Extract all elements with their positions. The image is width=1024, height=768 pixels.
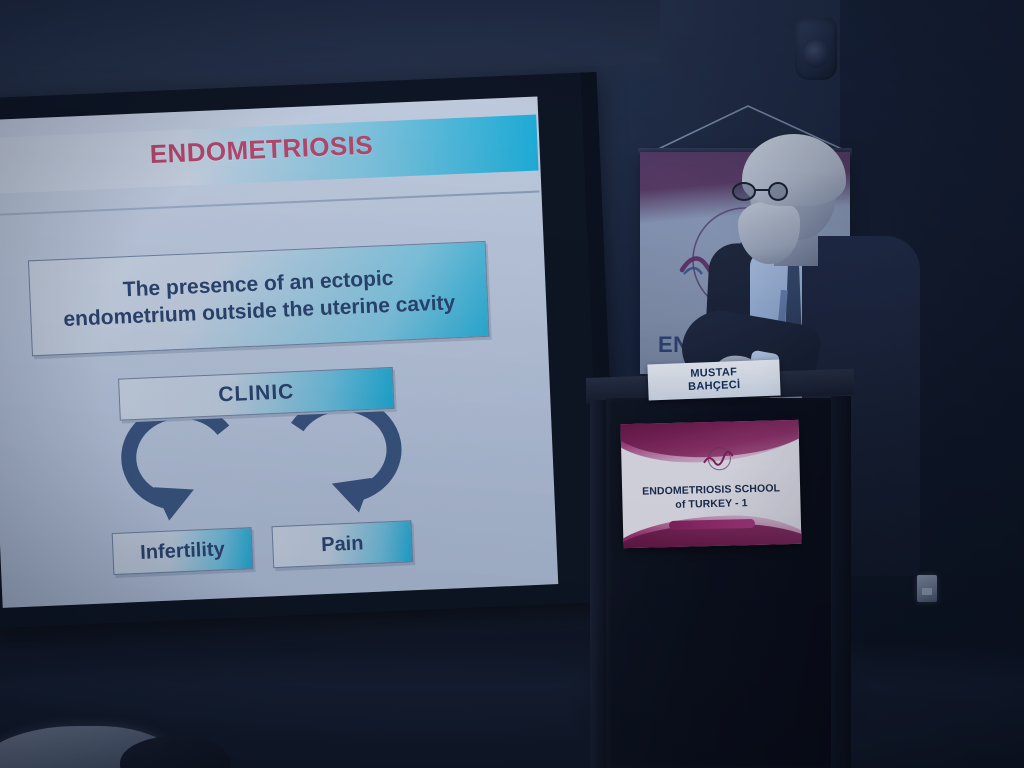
outcome-label-infertility: Infertility: [140, 538, 225, 565]
definition-line-2: endometrium outside the uterine cavity: [63, 291, 456, 331]
conference-poster: ENDOMETRIOSIS SCHOOL of TURKEY - 1: [621, 420, 802, 548]
podium: MUSTAF BAHÇECİ ENDOMETRIOSIS SCHOOL of T…: [586, 378, 854, 768]
ceiling-speaker-icon: [795, 18, 837, 80]
lens-left: [732, 182, 756, 201]
outcome-label-pain: Pain: [321, 532, 364, 557]
poster-title-line-1: ENDOMETRIOSIS SCHOOL: [642, 482, 780, 497]
definition-text: The presence of an ectopic endometrium o…: [56, 263, 462, 334]
lecture-hall-photo: TURKISH ENDOMETRIOSIS & ADENOMYOSIS SOCI…: [0, 0, 1024, 768]
slide-divider: [0, 190, 539, 216]
branching-arrows-icon: [115, 410, 409, 532]
slide-surface: ENDOMETRIOSIS The presence of an ectopic…: [0, 96, 558, 607]
projection-screen: ENDOMETRIOSIS The presence of an ectopic…: [0, 72, 619, 628]
eyeglasses-icon: [732, 182, 796, 202]
lens-right: [768, 182, 788, 201]
slide-title-bar: ENDOMETRIOSIS: [0, 115, 539, 195]
nameplate-last-name: BAHÇECİ: [688, 379, 741, 394]
outcome-box-infertility: Infertility: [112, 527, 254, 575]
poster-logo-icon: [700, 441, 735, 476]
speaker-nameplate: MUSTAF BAHÇECİ: [647, 359, 780, 400]
slide-title: ENDOMETRIOSIS: [0, 123, 538, 178]
glasses-bridge: [755, 189, 769, 191]
poster-title-line-2: of TURKEY - 1: [675, 497, 748, 511]
poster-title: ENDOMETRIOSIS SCHOOL of TURKEY - 1: [622, 482, 801, 514]
podium-right-edge: [831, 396, 851, 768]
outcome-box-pain: Pain: [272, 520, 414, 568]
definition-box: The presence of an ectopic endometrium o…: [28, 241, 490, 356]
clinic-label: CLINIC: [218, 380, 295, 407]
